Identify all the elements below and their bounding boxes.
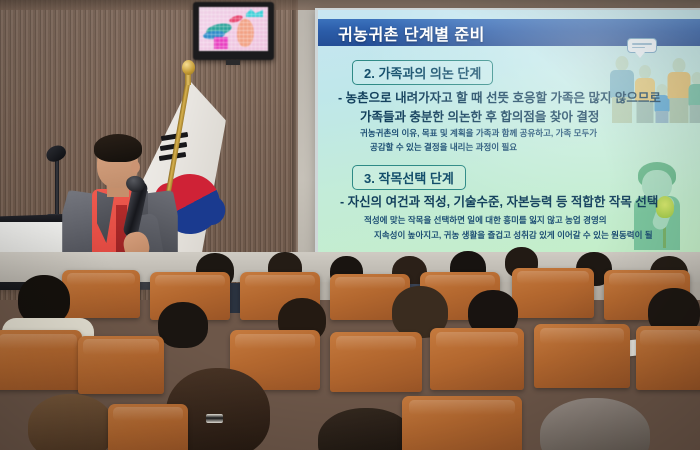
presentation-slide: 귀농귀촌 단계별 준비 — [318, 10, 700, 255]
slide-section-3-bullet1: 적성에 맞는 작목을 선택하면 일에 대한 흥미를 잃지 않고 농업 경영의 — [364, 214, 607, 226]
speech-bubble-icon — [627, 38, 657, 53]
wall-monitor-screen — [199, 7, 268, 51]
auditorium-seat — [62, 270, 140, 318]
slide-section-2-bullet2: 공감할 수 있는 결정을 내리는 과정이 필요 — [370, 141, 517, 153]
slide-section-2-line2: 가족들과 충분한 의논한 후 합의점을 찾아 결정 — [360, 106, 599, 125]
slide-title: 귀농귀촌 단계별 준비 — [338, 21, 485, 45]
attendee-head — [28, 394, 114, 450]
auditorium-seat — [402, 396, 522, 450]
microphone-stand — [55, 155, 59, 217]
presenter-hair — [94, 134, 142, 162]
auditorium-seat — [636, 326, 700, 390]
attendee-head — [158, 302, 208, 348]
auditorium-seat — [0, 330, 82, 390]
attendee-head — [318, 408, 414, 450]
auditorium-seat — [330, 332, 422, 392]
seedling-icon — [656, 196, 674, 218]
slide-section-3-line1: - 자신의 여건과 적성, 기술수준, 자본능력 등 적합한 작목 선택 — [340, 191, 658, 210]
wall-monitor-mount — [226, 60, 240, 65]
slide-section-3-heading: 3. 작목선택 단계 — [352, 165, 466, 190]
auditorium-seat — [512, 268, 594, 318]
attendee-head — [540, 398, 650, 450]
slide-section-2-line1: - 농촌으로 내려가자고 할 때 선뜻 호응할 가족은 많지 않으므로 — [338, 87, 661, 106]
flag-finial-icon — [182, 60, 195, 75]
presenter-ear — [131, 161, 140, 173]
wall-monitor — [193, 2, 274, 60]
slide-section-3-bullet2: 지속성이 높아지고, 귀농 생활을 즐겁고 성취감 있게 이어갈 수 있는 원동… — [374, 229, 653, 241]
slide-section-2-heading: 2. 가족과의 의논 단계 — [352, 60, 493, 85]
auditorium-seat — [430, 328, 524, 390]
family-group-illustration — [603, 40, 700, 122]
auditorium-seat — [108, 404, 188, 450]
auditorium-seat — [534, 324, 630, 388]
hair-clip — [206, 414, 223, 423]
auditorium-seat — [78, 336, 164, 394]
lecture-hall-photo: 귀농귀촌 단계별 준비 — [0, 0, 700, 450]
slide-section-2-bullet1: 귀농귀촌의 이유, 목표 및 계획을 가족과 함께 공유하고, 가족 모두가 — [360, 127, 597, 139]
